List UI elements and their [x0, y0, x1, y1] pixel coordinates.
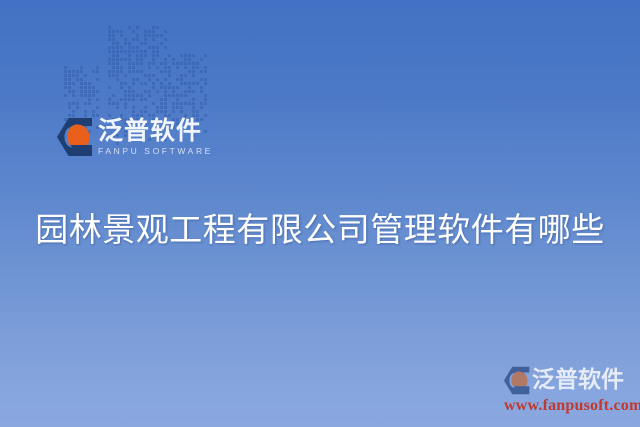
watermark-logo-row: 泛普软件: [503, 366, 637, 396]
page-title: 园林景观工程有限公司管理软件有哪些: [0, 208, 640, 252]
brand-logo: 泛普软件 FANPU SOFTWARE: [56, 117, 196, 167]
watermark-url: www.fanpusoft.com: [504, 397, 637, 415]
pixel-cityscape-pattern: [64, 26, 204, 124]
brand-name-en: FANPU SOFTWARE: [98, 146, 213, 157]
brand-wordmark: 泛普软件 FANPU SOFTWARE: [98, 117, 213, 157]
slide-canvas: 泛普软件 FANPU SOFTWARE 园林景观工程有限公司管理软件有哪些 泛普…: [0, 0, 640, 427]
brand-name-cn: 泛普软件: [98, 117, 213, 145]
fanpu-logo-mark-icon: [503, 366, 531, 395]
fanpu-logo-mark-icon: [56, 117, 94, 157]
watermark-name-cn: 泛普软件: [532, 366, 624, 394]
watermark: 泛普软件 www.fanpusoft.com: [503, 366, 637, 416]
